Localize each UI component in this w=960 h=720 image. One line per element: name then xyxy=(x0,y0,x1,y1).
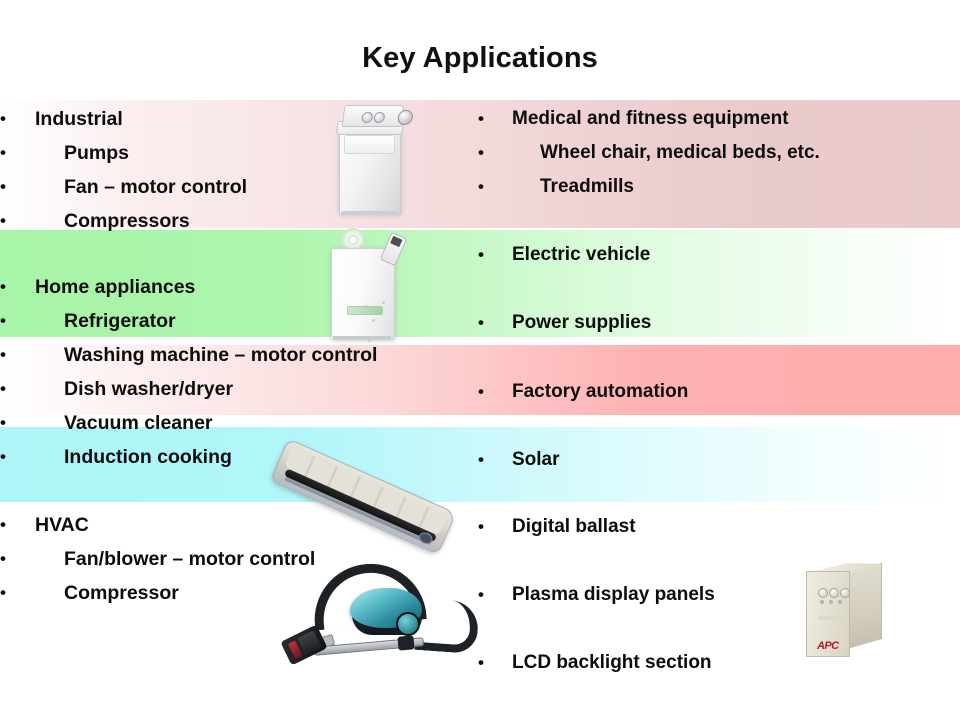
vacuum-wheel xyxy=(396,612,420,636)
vacuum-head-plate xyxy=(297,630,322,655)
vacuum-wand-joint xyxy=(397,635,414,650)
list-item-wheel-chair-medical-beds: • Wheel chair, medical beds, etc. xyxy=(478,136,960,170)
list-item-label: Fan – motor control xyxy=(42,170,470,204)
list-item-label: Plasma display panels xyxy=(490,578,960,612)
bullet-icon: • xyxy=(0,576,6,610)
list-item-plasma-display-panels: • Plasma display panels xyxy=(478,578,960,612)
bullet-icon: • xyxy=(0,542,6,576)
list-item-label: Refrigerator xyxy=(42,304,470,338)
bullet-icon: • xyxy=(0,338,6,372)
bullet-icon: • xyxy=(478,375,484,409)
bullet-icon: • xyxy=(0,270,6,304)
list-item-factory-automation: • Factory automation xyxy=(478,375,960,409)
list-item-industrial: • Industrial xyxy=(0,102,470,136)
list-item-treadmills: • Treadmills xyxy=(478,170,960,204)
list-item-vacuum-cleaner: • Vacuum cleaner xyxy=(0,406,470,440)
list-item-label: Washing machine – motor control xyxy=(42,338,470,372)
bullet-icon: • xyxy=(478,646,484,680)
list-item-label: Power supplies xyxy=(490,306,960,340)
list-item-power-supplies: • Power supplies xyxy=(478,306,960,340)
list-item-label: LCD backlight section xyxy=(490,646,960,680)
page-title: Key Applications xyxy=(0,42,960,75)
bullet-icon: • xyxy=(0,372,6,406)
list-item-hvac: • HVAC xyxy=(0,508,470,542)
list-item-label: Digital ballast xyxy=(490,510,960,544)
list-item-refrigerator: • Refrigerator xyxy=(0,304,470,338)
list-item-label: Induction cooking xyxy=(42,440,470,474)
list-item-home-appliances: • Home appliances xyxy=(0,270,470,304)
list-item-electric-vehicle: • Electric vehicle xyxy=(478,238,960,272)
bullet-icon: • xyxy=(478,578,484,612)
bullet-icon: • xyxy=(0,204,6,238)
bullet-icon: • xyxy=(0,304,6,338)
bullet-icon: • xyxy=(478,443,484,477)
list-item-label: Solar xyxy=(490,443,960,477)
list-item-washing-machine: • Washing machine – motor control xyxy=(0,338,470,372)
list-item-label: Fan/blower – motor control xyxy=(42,542,470,576)
list-item-fan-motor-control: • Fan – motor control xyxy=(0,170,470,204)
bullet-icon: • xyxy=(0,440,6,474)
list-item-label: Wheel chair, medical beds, etc. xyxy=(518,136,960,170)
list-item-label: Compressor xyxy=(42,576,470,610)
bullet-icon: • xyxy=(478,306,484,340)
list-item-label: Electric vehicle xyxy=(490,238,960,272)
list-item-label: Compressors xyxy=(42,204,470,238)
left-bullet-column: • Industrial • Pumps • Fan – motor contr… xyxy=(0,100,470,610)
list-item-digital-ballast: • Digital ballast xyxy=(478,510,960,544)
bullet-icon: • xyxy=(0,508,6,542)
bullet-icon: • xyxy=(478,170,484,204)
bullet-icon: • xyxy=(0,102,6,136)
list-item-label: Factory automation xyxy=(490,375,960,409)
bullet-icon: • xyxy=(0,170,6,204)
right-bullet-column: • Medical and fitness equipment • Wheel … xyxy=(478,100,960,680)
vacuum-floor-head xyxy=(280,625,327,666)
list-item-lcd-backlight-section: • LCD backlight section xyxy=(478,646,960,680)
list-item-pumps: • Pumps xyxy=(0,136,470,170)
list-item-label: Pumps xyxy=(42,136,470,170)
bullet-icon: • xyxy=(478,510,484,544)
list-item-medical-fitness-equipment: • Medical and fitness equipment xyxy=(478,102,960,136)
bullet-icon: • xyxy=(478,238,484,272)
list-item-label: Dish washer/dryer xyxy=(42,372,470,406)
list-item-dish-washer-dryer: • Dish washer/dryer xyxy=(0,372,470,406)
bullet-icon: • xyxy=(478,102,484,136)
slide-canvas: Key Applications • Industrial • Pumps • … xyxy=(0,0,960,720)
list-item-label: Industrial xyxy=(14,102,470,136)
list-item-label: Medical and fitness equipment xyxy=(490,102,960,136)
bullet-icon: • xyxy=(0,406,6,440)
list-item-label: Home appliances xyxy=(14,270,470,304)
list-item-compressors: • Compressors xyxy=(0,204,470,238)
list-item-label: Treadmills xyxy=(518,170,960,204)
list-item-solar: • Solar xyxy=(478,443,960,477)
bullet-icon: • xyxy=(478,136,484,170)
list-item-induction-cooking: • Induction cooking xyxy=(0,440,470,474)
bullet-icon: • xyxy=(0,136,6,170)
list-item-compressor: • Compressor xyxy=(0,576,470,610)
list-item-label: Vacuum cleaner xyxy=(42,406,470,440)
list-item-fan-blower-motor-control: • Fan/blower – motor control xyxy=(0,542,470,576)
list-item-label: HVAC xyxy=(14,508,470,542)
